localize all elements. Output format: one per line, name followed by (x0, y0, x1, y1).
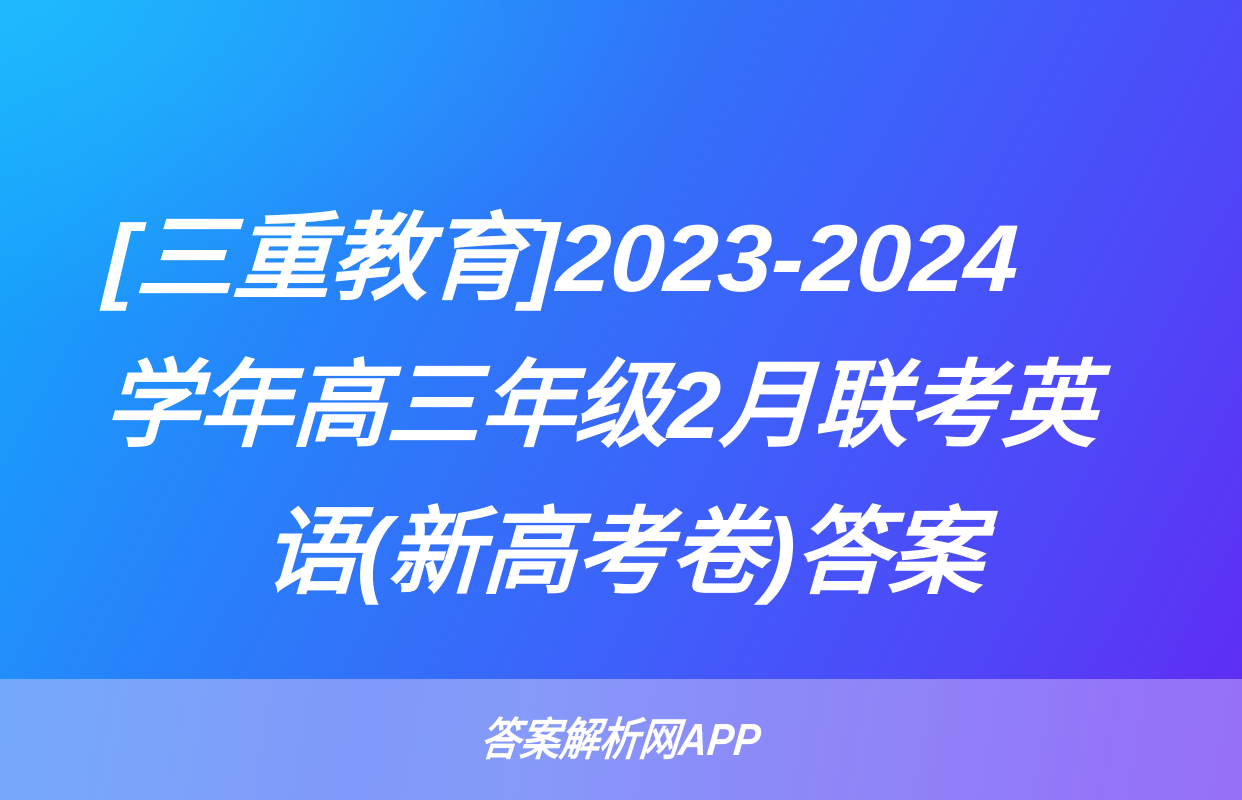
poster-title: [三重教育]2023-2024 学年高三年级2月联考英 语(新高考卷)答案 (104, 186, 1142, 606)
title-line-1: [三重教育]2023-2024 (101, 186, 1180, 333)
title-line-3: 语(新高考卷)答案 (101, 480, 1144, 627)
poster-root: [三重教育]2023-2024 学年高三年级2月联考英 语(新高考卷)答案 答案… (0, 0, 1242, 800)
watermark-label: 答案解析网APP (479, 717, 763, 762)
watermark-band: 答案解析网APP (0, 679, 1242, 800)
title-line-2: 学年高三年级2月联考英 (101, 333, 1144, 480)
